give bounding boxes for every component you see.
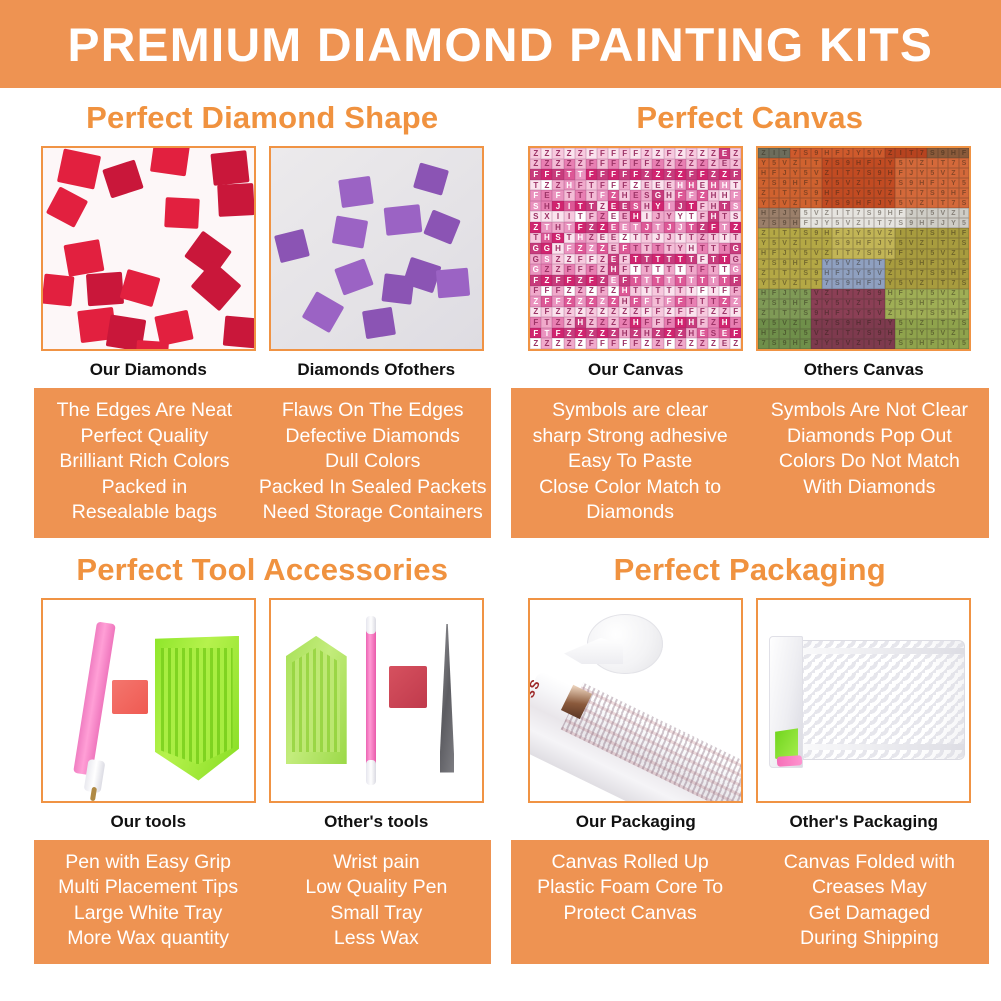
- canvas-color-cell: I: [895, 269, 906, 279]
- canvas-color-cell: 7: [822, 158, 833, 168]
- sections-grid: Perfect Diamond Shape: [0, 88, 1001, 964]
- canvas-color-cell: 7: [822, 279, 833, 289]
- canvas-symbol-cell: Z: [564, 296, 575, 307]
- canvas-symbol-cell: E: [719, 328, 730, 339]
- canvas-color-cell: J: [906, 208, 917, 218]
- pen-needle-icon: [90, 786, 97, 801]
- canvas-symbol-cell: E: [608, 243, 619, 254]
- canvas-symbol-cell: T: [697, 296, 708, 307]
- canvas-symbol-cell: T: [675, 254, 686, 265]
- canvas-color-cell: I: [927, 319, 938, 329]
- canvas-symbol-cell: J: [641, 222, 652, 233]
- canvas-color-cell: Y: [917, 329, 928, 339]
- canvas-symbol-cell: Z: [575, 307, 586, 318]
- canvas-symbol-cell: T: [652, 243, 663, 254]
- canvas-color-cell: T: [874, 339, 885, 349]
- canvas-symbol-cell: F: [675, 190, 686, 201]
- canvas-color-cell: 5: [895, 319, 906, 329]
- canvas-symbol-cell: X: [541, 211, 552, 222]
- canvas-color-cell: Y: [758, 319, 769, 329]
- canvas-symbol-cell: F: [608, 169, 619, 180]
- canvas-symbol-cell: H: [675, 317, 686, 328]
- canvas-color-cell: T: [779, 309, 790, 319]
- canvas-symbol-cell: F: [730, 275, 741, 286]
- canvas-color-cell: Y: [758, 198, 769, 208]
- photo-pair-canvas: ZZZZZFFFFFZZFZZZZEZZZZZZFFFFFFZZZZZZEZFF…: [511, 146, 990, 388]
- canvas-color-cell: 9: [938, 148, 949, 158]
- canvas-color-cell: 7: [948, 158, 959, 168]
- canvas-symbol-cell: F: [708, 222, 719, 233]
- feature-line: Resealable bags: [38, 500, 251, 526]
- canvas-color-cell: S: [769, 339, 780, 349]
- canvas-color-cell: Y: [853, 228, 864, 238]
- canvas-color-cell: J: [811, 178, 822, 188]
- canvas-color-cell: Z: [917, 238, 928, 248]
- canvas-symbol-cell: Z: [608, 296, 619, 307]
- canvas-symbol-cell: E: [608, 201, 619, 212]
- canvas-symbol-cell: Z: [675, 169, 686, 180]
- canvas-symbol-cell: Z: [552, 159, 563, 170]
- canvas-symbol-cell: T: [641, 243, 652, 254]
- canvas-color-cell: Y: [885, 158, 896, 168]
- canvas-color-cell: I: [769, 269, 780, 279]
- canvas-symbol-cell: F: [619, 180, 630, 191]
- canvas-color-cell: V: [938, 329, 949, 339]
- canvas-color-cell: 7: [948, 319, 959, 329]
- canvas-color-cell: I: [800, 319, 811, 329]
- canvas-color-cell: T: [811, 198, 822, 208]
- canvas-symbol-cell: T: [675, 275, 686, 286]
- canvas-symbol-cell: F: [552, 328, 563, 339]
- canvas-symbol-cell: T: [652, 286, 663, 297]
- canvas-symbol-cell: G: [530, 254, 541, 265]
- canvas-symbol-cell: J: [652, 211, 663, 222]
- canvas-symbol-cell: F: [552, 190, 563, 201]
- canvas-color-cell: V: [938, 208, 949, 218]
- canvas-color-cell: 7: [885, 299, 896, 309]
- canvas-color-cell: T: [906, 148, 917, 158]
- canvas-symbol-cell: Z: [630, 180, 641, 191]
- canvas-color-cell: Y: [853, 148, 864, 158]
- canvas-color-cell: 5: [959, 259, 970, 269]
- caption-our-tools: Our tools: [41, 812, 256, 832]
- canvas-color-cell: Y: [885, 319, 896, 329]
- canvas-symbol-cell: T: [686, 201, 697, 212]
- canvas-symbol-cell: T: [719, 275, 730, 286]
- feature-line: Protect Canvas: [515, 901, 746, 927]
- canvas-symbol-cell: T: [652, 264, 663, 275]
- canvas-color-cell: 5: [832, 299, 843, 309]
- canvas-color-cell: S: [769, 259, 780, 269]
- canvas-symbol-cell: Z: [530, 159, 541, 170]
- canvas-symbol-cell: F: [530, 190, 541, 201]
- canvas-color-cell: H: [790, 339, 801, 349]
- canvas-symbol-cell: T: [675, 286, 686, 297]
- canvas-color-cell: Y: [822, 178, 833, 188]
- canvas-color-cell: F: [800, 178, 811, 188]
- canvas-symbol-cell: Z: [564, 307, 575, 318]
- pink-pen-wax-green-tray-photo: [41, 598, 256, 803]
- canvas-symbol-cell: Z: [608, 286, 619, 297]
- canvas-symbol-cell: T: [708, 275, 719, 286]
- canvas-color-cell: 5: [800, 329, 811, 339]
- canvas-symbol-cell: T: [730, 180, 741, 191]
- canvas-color-cell: 7: [853, 168, 864, 178]
- canvas-color-cell: S: [895, 339, 906, 349]
- canvas-color-cell: H: [853, 319, 864, 329]
- canvas-symbol-cell: T: [664, 264, 675, 275]
- canvas-color-cell: V: [811, 329, 822, 339]
- canvas-color-cell: S: [800, 228, 811, 238]
- canvas-symbol-cell: H: [630, 211, 641, 222]
- canvas-color-cell: V: [874, 188, 885, 198]
- canvas-symbol-cell: T: [708, 243, 719, 254]
- canvas-symbol-cell: Z: [675, 338, 686, 349]
- canvas-symbol-cell: T: [664, 275, 675, 286]
- canvas-color-cell: H: [822, 148, 833, 158]
- canvas-color-cell: 7: [917, 309, 928, 319]
- canvas-color-cell: Y: [885, 198, 896, 208]
- canvas-symbol-cell: Z: [597, 201, 608, 212]
- canvas-color-cell: V: [906, 319, 917, 329]
- canvas-symbol-cell: F: [564, 264, 575, 275]
- tray-ridges-icon: [161, 648, 233, 765]
- tweezers-icon: [440, 624, 455, 773]
- canvas-symbol-cell: Z: [586, 286, 597, 297]
- canvas-symbol-cell: F: [530, 328, 541, 339]
- canvas-color-cell: 5: [769, 158, 780, 168]
- canvas-symbol-cell: Z: [652, 159, 663, 170]
- canvas-color-cell: V: [779, 319, 790, 329]
- canvas-color-cell: Z: [948, 168, 959, 178]
- canvas-symbol-cell: Z: [530, 222, 541, 233]
- canvas-color-cell: F: [927, 259, 938, 269]
- canvas-color-cell: S: [927, 309, 938, 319]
- canvas-color-cell: 5: [769, 238, 780, 248]
- canvas-symbol-cell: S: [708, 328, 719, 339]
- canvas-color-cell: Z: [790, 198, 801, 208]
- canvas-color-cell: I: [800, 279, 811, 289]
- canvas-symbol-cell: Z: [552, 307, 563, 318]
- canvas-color-cell: F: [864, 279, 875, 289]
- canvas-symbol-cell: Z: [619, 233, 630, 244]
- canvas-symbol-cell: F: [619, 254, 630, 265]
- canvas-symbol-cell: T: [719, 254, 730, 265]
- canvas-color-cell: 7: [948, 238, 959, 248]
- caption-other-diamonds: Diamonds Ofothers: [269, 360, 484, 380]
- canvas-color-cell: J: [906, 249, 917, 259]
- canvas-symbol-cell: F: [586, 169, 597, 180]
- canvas-symbol-cell: I: [664, 201, 675, 212]
- pen-cap-icon: [366, 760, 377, 784]
- canvas-symbol-cell: F: [719, 286, 730, 297]
- canvas-color-cell: 7: [758, 339, 769, 349]
- canvas-color-cell: 9: [906, 178, 917, 188]
- feature-line: With Diamonds: [754, 475, 985, 501]
- canvas-symbol-cell: F: [730, 190, 741, 201]
- canvas-color-cell: H: [948, 269, 959, 279]
- canvas-symbol-cell: Z: [730, 338, 741, 349]
- features-diamond-shape: The Edges Are NeatPerfect QualityBrillia…: [34, 388, 491, 538]
- canvas-color-cell: 5: [959, 178, 970, 188]
- canvas-color-cell: S: [864, 329, 875, 339]
- canvas-color-cell: Z: [885, 188, 896, 198]
- canvas-symbol-cell: H: [686, 180, 697, 191]
- canvas-color-cell: V: [811, 289, 822, 299]
- canvas-color-cell: H: [885, 168, 896, 178]
- canvas-color-cell: Y: [758, 279, 769, 289]
- canvas-symbol-cell: Z: [564, 148, 575, 159]
- canvas-symbol-cell: F: [564, 243, 575, 254]
- canvas-symbol-cell: G: [541, 243, 552, 254]
- rolled-canvas-tube-photo: SS-011: [528, 598, 743, 803]
- canvas-color-cell: 7: [758, 299, 769, 309]
- canvas-color-cell: J: [906, 168, 917, 178]
- canvas-color-cell: F: [769, 289, 780, 299]
- canvas-color-cell: 5: [864, 309, 875, 319]
- canvas-color-cell: 7: [758, 218, 769, 228]
- canvas-symbol-cell: Z: [708, 159, 719, 170]
- canvas-color-cell: 7: [885, 259, 896, 269]
- canvas-symbol-cell: H: [664, 190, 675, 201]
- canvas-symbol-cell: I: [641, 211, 652, 222]
- canvas-symbol-cell: F: [697, 211, 708, 222]
- features-theirs: Flaws On The EdgesDefective DiamondsDull…: [255, 398, 491, 526]
- canvas-symbol-cell: H: [719, 317, 730, 328]
- canvas-color-cell: J: [843, 188, 854, 198]
- canvas-symbol-cell: T: [719, 264, 730, 275]
- canvas-color-cell: F: [959, 309, 970, 319]
- canvas-color-cell: T: [874, 299, 885, 309]
- canvas-symbol-cell: I: [552, 211, 563, 222]
- canvas-color-cell: Y: [790, 249, 801, 259]
- canvas-color-cell: S: [959, 198, 970, 208]
- canvas-color-cell: 9: [811, 228, 822, 238]
- canvas-symbol-cell: E: [608, 275, 619, 286]
- promo-infographic: PREMIUM DIAMOND PAINTING KITS Perfect Di…: [0, 0, 1001, 1001]
- canvas-color-cell: S: [895, 299, 906, 309]
- canvas-color-cell: J: [843, 228, 854, 238]
- canvas-color-cell: 5: [864, 188, 875, 198]
- canvas-symbol-cell: G: [652, 190, 663, 201]
- canvas-color-cell: Z: [885, 309, 896, 319]
- canvas-color-cell: 5: [927, 208, 938, 218]
- canvas-symbol-cell: E: [697, 328, 708, 339]
- canvas-symbol-cell: Z: [652, 169, 663, 180]
- canvas-symbol-cell: F: [619, 338, 630, 349]
- canvas-symbol-cell: T: [564, 190, 575, 201]
- feature-line: Canvas Folded with: [754, 850, 985, 876]
- canvas-symbol-cell: J: [664, 222, 675, 233]
- canvas-symbol-cell: Z: [675, 148, 686, 159]
- canvas-color-cell: Z: [790, 238, 801, 248]
- canvas-symbol-cell: Z: [586, 233, 597, 244]
- canvas-symbol-cell: F: [675, 307, 686, 318]
- canvas-color-cell: I: [769, 188, 780, 198]
- canvas-symbol-cell: F: [697, 169, 708, 180]
- canvas-symbol-cell: F: [586, 275, 597, 286]
- canvas-symbol-cell: Z: [530, 148, 541, 159]
- canvas-symbol-cell: Z: [530, 296, 541, 307]
- canvas-symbol-cell: Z: [575, 275, 586, 286]
- canvas-symbol-cell: T: [641, 264, 652, 275]
- canvas-color-cell: 7: [917, 228, 928, 238]
- cell-our-tools: Our tools: [41, 598, 256, 840]
- canvas-color-cell: 5: [959, 339, 970, 349]
- canvas-color-cell: 7: [758, 178, 769, 188]
- canvas-symbol-cell: F: [575, 180, 586, 191]
- canvas-color-cell: J: [779, 249, 790, 259]
- canvas-symbol-cell: T: [708, 296, 719, 307]
- color-grid: ZIT7S9HFJY5VZIT7S9HFY5VZIT7S9HFJY5VZIT7S…: [758, 148, 969, 349]
- canvas-symbol-cell: Z: [575, 243, 586, 254]
- canvas-color-cell: 9: [843, 319, 854, 329]
- canvas-color-cell: S: [769, 178, 780, 188]
- feature-line: Less Wax: [266, 926, 486, 952]
- canvas-color-cell: Z: [790, 158, 801, 168]
- canvas-symbol-cell: T: [630, 243, 641, 254]
- canvas-symbol-cell: F: [564, 275, 575, 286]
- canvas-symbol-cell: F: [586, 148, 597, 159]
- canvas-color-cell: Z: [853, 259, 864, 269]
- canvas-symbol-cell: T: [686, 233, 697, 244]
- canvas-color-cell: 5: [832, 218, 843, 228]
- canvas-color-cell: 9: [779, 299, 790, 309]
- canvas-color-cell: T: [811, 279, 822, 289]
- canvas-color-cell: T: [906, 309, 917, 319]
- canvas-symbol-cell: E: [697, 180, 708, 191]
- canvas-symbol-cell: J: [552, 201, 563, 212]
- canvas-color-cell: F: [895, 168, 906, 178]
- canvas-color-cell: 9: [938, 188, 949, 198]
- canvas-color-cell: Z: [822, 168, 833, 178]
- feature-line: Need Storage Containers: [259, 500, 487, 526]
- canvas-color-cell: Z: [853, 299, 864, 309]
- canvas-color-cell: Y: [853, 269, 864, 279]
- wax-square-icon: [389, 666, 427, 708]
- canvas-symbol-cell: T: [641, 286, 652, 297]
- canvas-color-cell: T: [811, 238, 822, 248]
- caption-other-packaging: Other's Packaging: [756, 812, 971, 832]
- canvas-symbol-cell: T: [630, 275, 641, 286]
- canvas-color-cell: Y: [948, 178, 959, 188]
- canvas-color-cell: T: [938, 158, 949, 168]
- canvas-symbol-cell: G: [730, 254, 741, 265]
- canvas-color-cell: V: [938, 289, 949, 299]
- canvas-color-cell: J: [874, 319, 885, 329]
- canvas-symbol-cell: F: [697, 264, 708, 275]
- canvas-color-cell: J: [906, 289, 917, 299]
- canvas-color-cell: I: [959, 208, 970, 218]
- canvas-color-cell: 7: [758, 259, 769, 269]
- canvas-color-cell: S: [959, 279, 970, 289]
- canvas-symbol-cell: F: [619, 243, 630, 254]
- canvas-symbol-cell: Z: [608, 317, 619, 328]
- canvas-symbol-cell: T: [575, 201, 586, 212]
- canvas-color-cell: 9: [779, 259, 790, 269]
- canvas-symbol-cell: Z: [652, 338, 663, 349]
- canvas-symbol-cell: Z: [564, 254, 575, 265]
- canvas-color-cell: T: [938, 319, 949, 329]
- canvas-symbol-cell: F: [608, 180, 619, 191]
- canvas-color-cell: I: [895, 188, 906, 198]
- canvas-symbol-cell: F: [730, 307, 741, 318]
- canvas-symbol-cell: Z: [697, 159, 708, 170]
- canvas-color-cell: V: [874, 269, 885, 279]
- cell-our-diamonds: Our Diamonds: [41, 146, 256, 388]
- canvas-symbol-cell: H: [619, 296, 630, 307]
- feature-line: Dull Colors: [259, 449, 487, 475]
- canvas-color-cell: F: [832, 269, 843, 279]
- canvas-symbol-cell: Y: [675, 243, 686, 254]
- canvas-symbol-cell: T: [652, 275, 663, 286]
- section-packaging: Perfect Packaging SS-011 Our Packaging: [501, 538, 1001, 964]
- canvas-color-cell: Y: [758, 158, 769, 168]
- canvas-color-cell: I: [832, 329, 843, 339]
- canvas-symbol-cell: T: [719, 243, 730, 254]
- canvas-color-cell: Y: [948, 218, 959, 228]
- canvas-symbol-cell: Z: [597, 275, 608, 286]
- canvas-color-cell: I: [832, 168, 843, 178]
- page-header: PREMIUM DIAMOND PAINTING KITS: [0, 0, 1001, 88]
- canvas-symbol-cell: T: [686, 264, 697, 275]
- canvas-symbol-cell: I: [564, 211, 575, 222]
- canvas-color-cell: J: [811, 299, 822, 309]
- canvas-symbol-cell: E: [630, 190, 641, 201]
- feature-line: Get Damaged: [754, 901, 985, 927]
- canvas-color-cell: V: [843, 339, 854, 349]
- feature-line: sharp Strong adhesive: [515, 424, 746, 450]
- canvas-symbol-cell: T: [652, 296, 663, 307]
- feature-line: Brilliant Rich Colors: [38, 449, 251, 475]
- canvas-color-cell: 9: [843, 198, 854, 208]
- canvas-color-cell: H: [885, 249, 896, 259]
- canvas-symbol-cell: Z: [575, 148, 586, 159]
- canvas-color-cell: Z: [822, 249, 833, 259]
- canvas-color-cell: H: [853, 158, 864, 168]
- canvas-color-cell: F: [832, 148, 843, 158]
- canvas-symbol-cell: H: [541, 201, 552, 212]
- canvas-color-cell: Z: [917, 279, 928, 289]
- features-tools: Pen with Easy GripMulti Placement TipsLa…: [34, 840, 491, 964]
- canvas-symbol-cell: Z: [697, 190, 708, 201]
- canvas-symbol-cell: T: [575, 190, 586, 201]
- feature-line: Plastic Foam Core To: [515, 875, 746, 901]
- canvas-color-cell: 5: [927, 249, 938, 259]
- canvas-symbol-cell: Z: [530, 307, 541, 318]
- canvas-color-cell: V: [779, 238, 790, 248]
- canvas-color-cell: V: [779, 279, 790, 289]
- canvas-color-cell: 7: [917, 188, 928, 198]
- canvas-symbol-cell: Z: [664, 169, 675, 180]
- canvas-symbol-cell: S: [730, 201, 741, 212]
- canvas-symbol-cell: H: [552, 243, 563, 254]
- canvas-color-cell: T: [779, 188, 790, 198]
- canvas-symbol-cell: F: [552, 275, 563, 286]
- canvas-color-cell: S: [959, 238, 970, 248]
- canvas-symbol-cell: Z: [552, 180, 563, 191]
- canvas-color-cell: 7: [948, 198, 959, 208]
- canvas-color-cell: F: [959, 188, 970, 198]
- canvas-color-cell: I: [864, 218, 875, 228]
- canvas-symbol-cell: Z: [708, 317, 719, 328]
- canvas-symbol-cell: Z: [597, 254, 608, 265]
- canvas-color-cell: Y: [853, 309, 864, 319]
- canvas-symbol-cell: T: [664, 286, 675, 297]
- canvas-symbol-cell: F: [664, 317, 675, 328]
- canvas-symbol-cell: S: [730, 211, 741, 222]
- canvas-color-cell: F: [927, 178, 938, 188]
